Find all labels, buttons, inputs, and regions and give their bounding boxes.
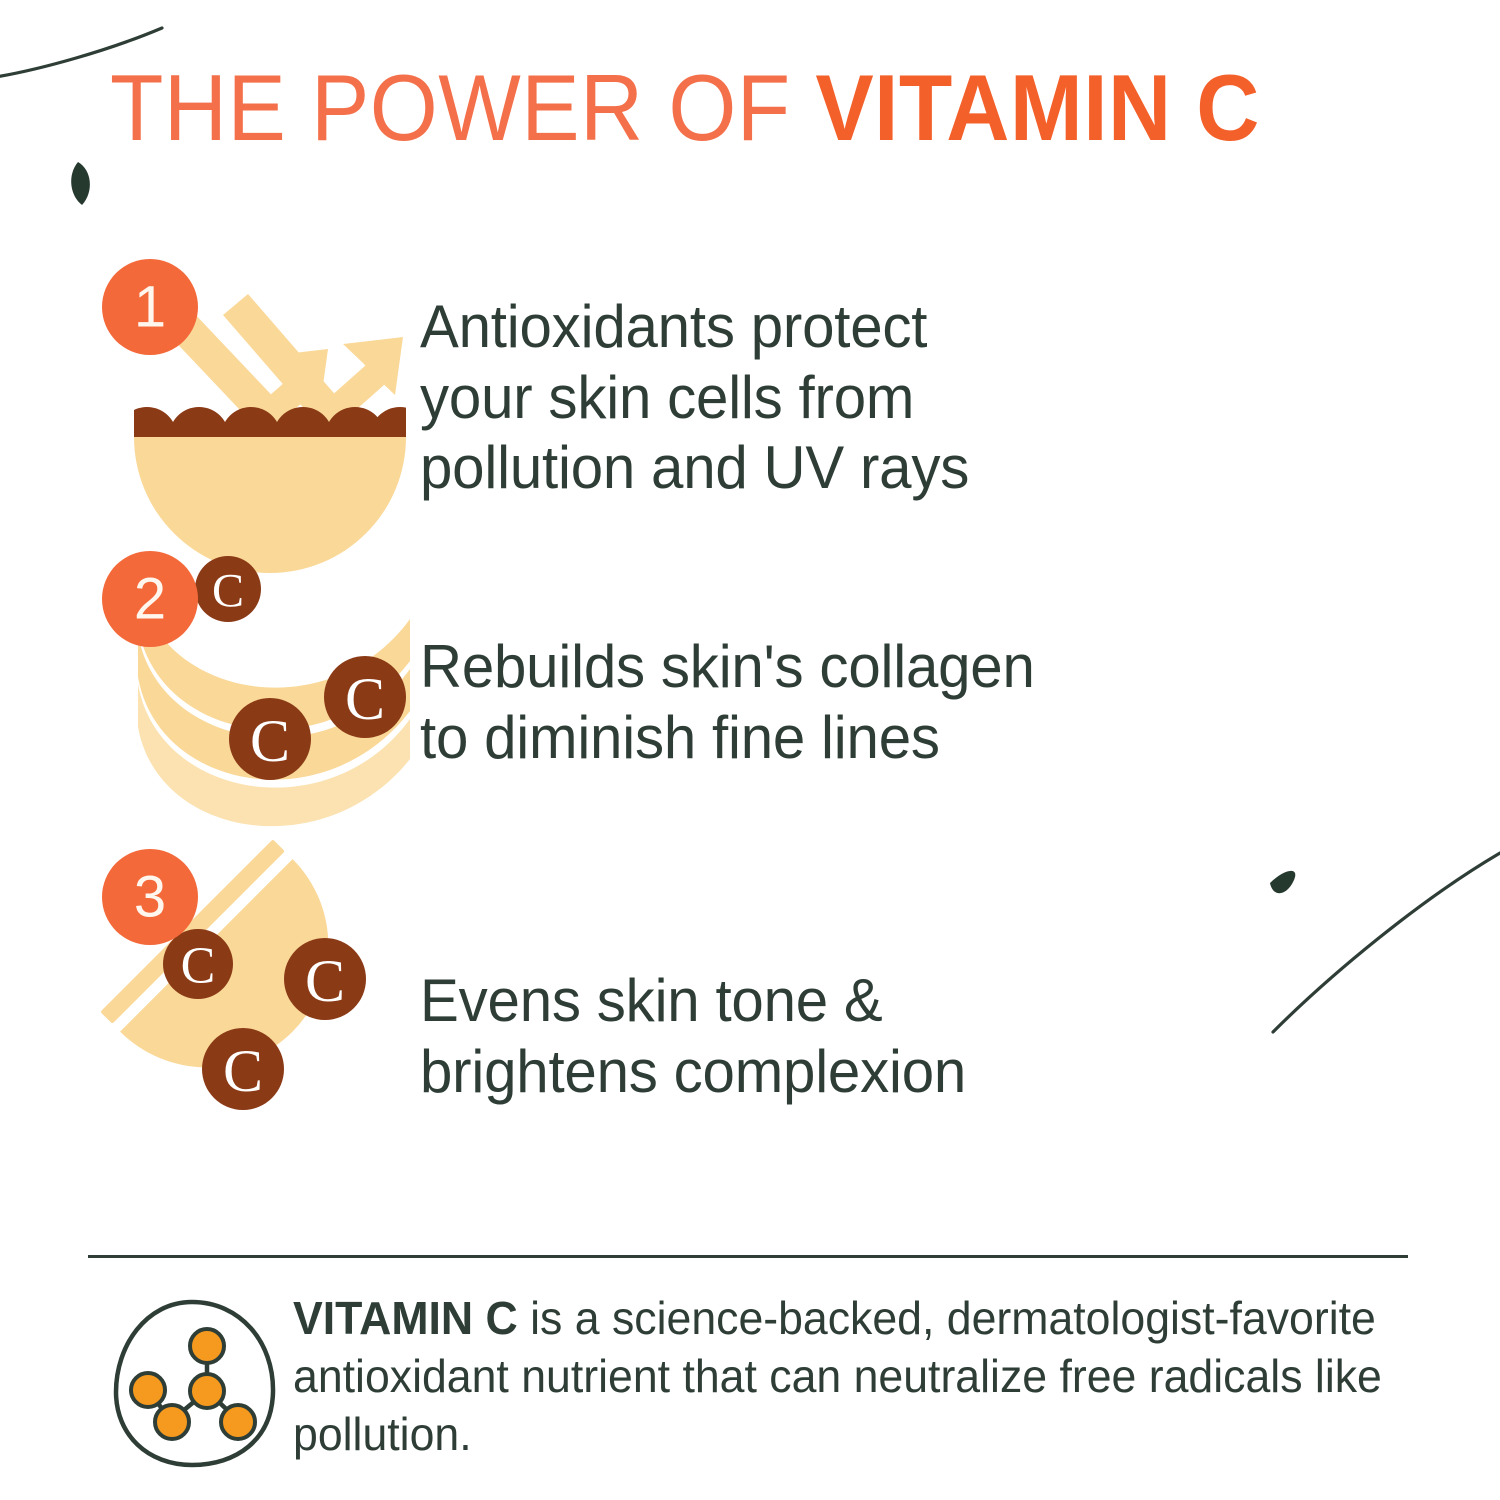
benefit-text-1: Antioxidants protect your skin cells fro… — [420, 292, 1429, 504]
text-cell: Evens skin tone & brightens complexion — [420, 888, 1500, 1108]
text-cell: Rebuilds skin's collagen to diminish fin… — [420, 622, 1500, 774]
benefit-row: C C C 2 Rebuilds skin's collagen to dimi… — [0, 548, 1500, 848]
step-badge-1: 1 — [0, 249, 420, 547]
text-cell: Antioxidants protect your skin cells fro… — [420, 292, 1500, 504]
molecule-atom — [131, 1373, 165, 1407]
benefit-line: your skin cells from — [420, 363, 1429, 434]
title-light-part: THE POWER OF — [110, 55, 815, 160]
molecule-atom — [221, 1405, 255, 1439]
molecule-atom — [190, 1329, 224, 1363]
molecule-atom — [190, 1374, 224, 1408]
footer-divider — [88, 1255, 1408, 1258]
step-number: 2 — [134, 567, 166, 632]
benefit-line: brightens complexion — [420, 1037, 1429, 1108]
step-badge-2: 2 — [0, 549, 420, 847]
page-title: THE POWER OF VITAMIN C — [110, 58, 1430, 158]
icon-cell: C C C 3 — [0, 849, 420, 1147]
benefit-row: 1 Antioxidants protect your skin cells f… — [0, 248, 1500, 548]
benefit-line: Antioxidants protect — [420, 292, 1429, 363]
title-bold-part: VITAMIN C — [815, 55, 1259, 160]
benefit-line: pollution and UV rays — [420, 433, 1429, 504]
benefit-text-3: Evens skin tone & brightens complexion — [420, 966, 1429, 1108]
benefit-row: C C C 3 Evens skin tone & brightens comp… — [0, 848, 1500, 1148]
step-number: 1 — [134, 275, 166, 340]
footer-note: VITAMIN C is a science-backed, dermatolo… — [88, 1288, 1428, 1478]
benefit-line: Rebuilds skin's collagen — [420, 632, 1429, 703]
footer-text: VITAMIN C is a science-backed, dermatolo… — [293, 1288, 1394, 1464]
step-number: 3 — [134, 865, 166, 930]
benefit-line: to diminish fine lines — [420, 703, 1429, 774]
molecule-icon-cell — [88, 1288, 293, 1478]
benefit-list: 1 Antioxidants protect your skin cells f… — [0, 248, 1500, 1148]
step-badge-3: 3 — [0, 849, 420, 1147]
icon-cell: C C C 2 — [0, 549, 420, 847]
benefit-line: Evens skin tone & — [420, 966, 1429, 1037]
benefit-text-2: Rebuilds skin's collagen to diminish fin… — [420, 632, 1429, 774]
leaf-top-left-icon — [71, 162, 90, 205]
footer-bold-lead: VITAMIN C — [293, 1292, 518, 1344]
molecule-icon — [110, 1296, 280, 1471]
molecule-atom — [155, 1405, 189, 1439]
icon-cell: 1 — [0, 249, 420, 547]
